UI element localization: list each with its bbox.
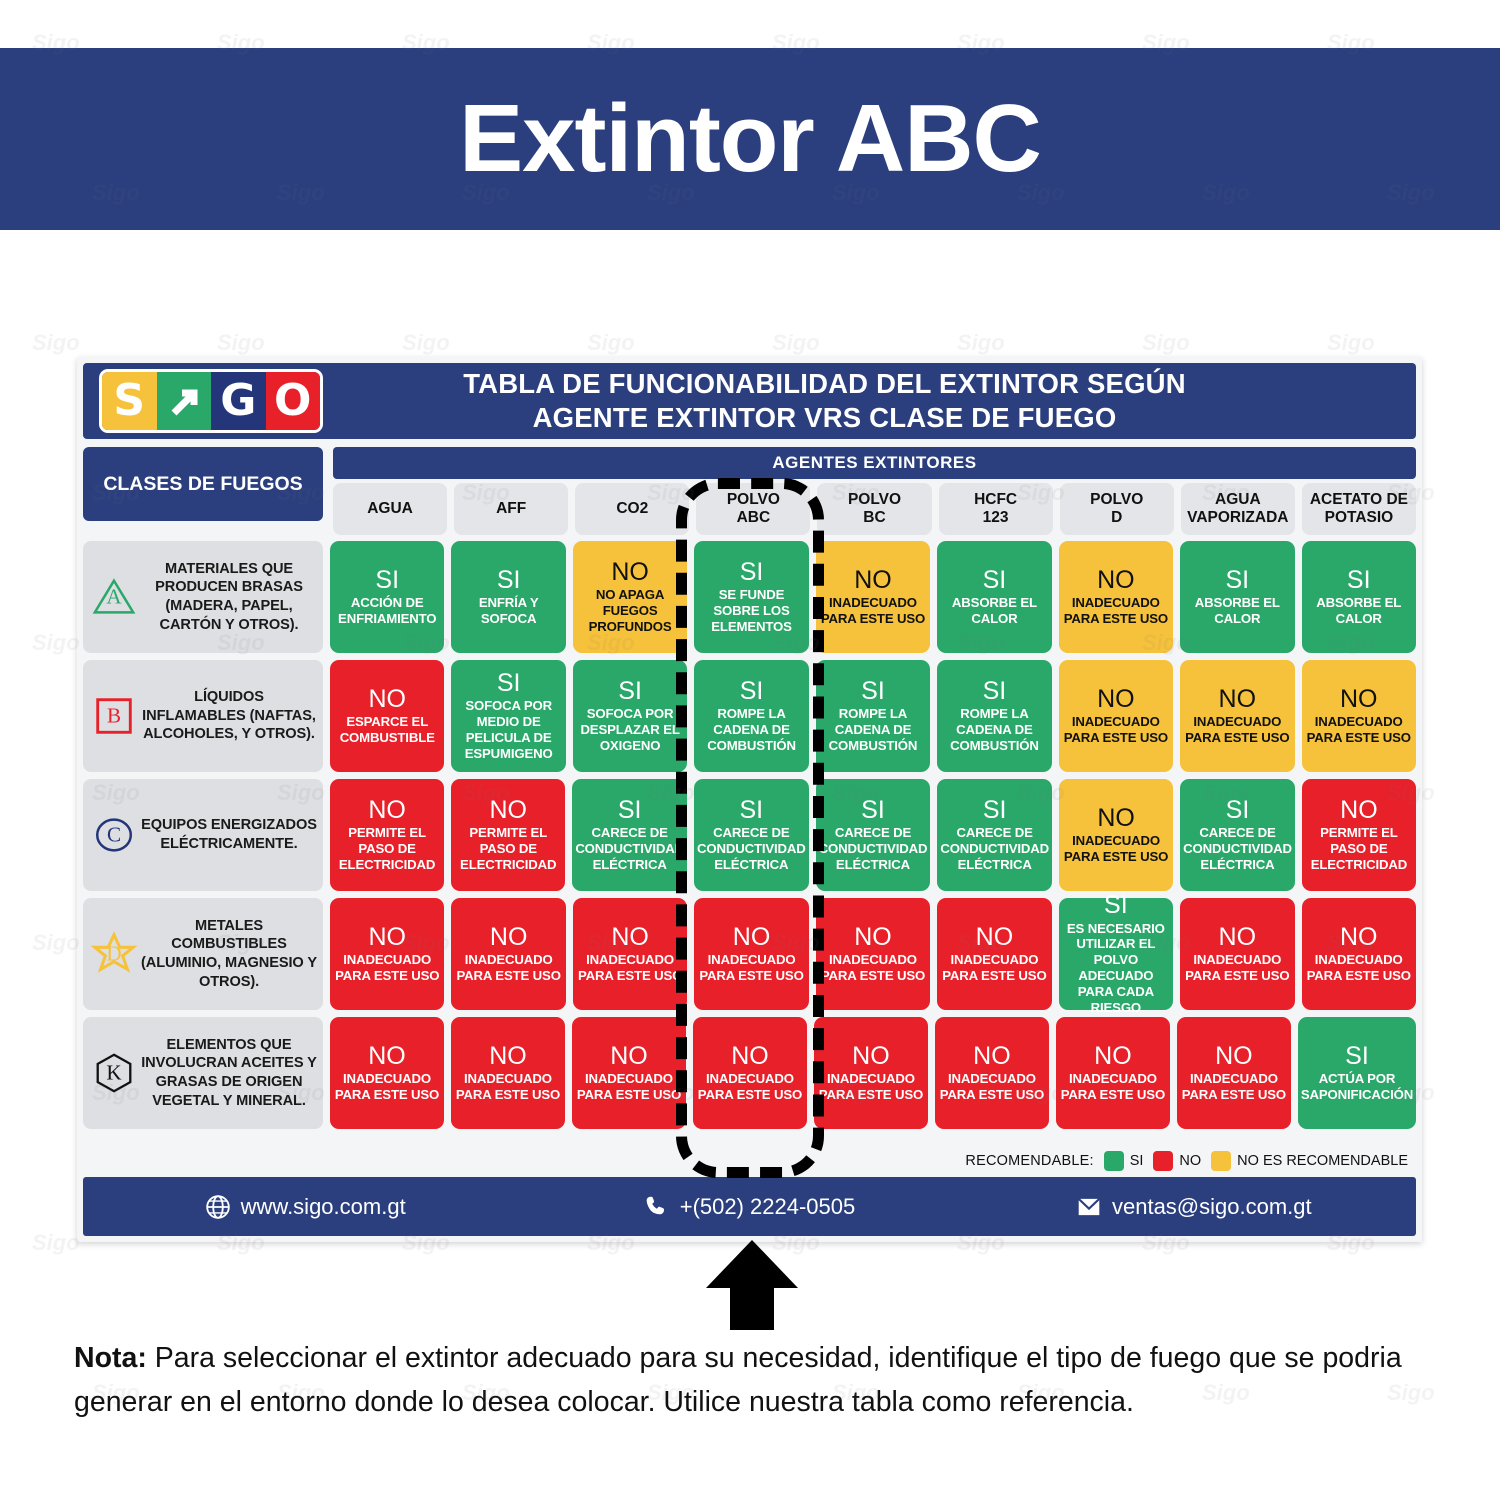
card-title-line2: AGENTE EXTINTOR VRS CLASE DE FUEGO [323,401,1326,435]
verdict-value: NO [1340,924,1378,950]
verdict-cell[interactable]: NOINADECUADO PARA ESTE USO [816,898,930,1010]
fire-class-description: EQUIPOS ENERGIZADOS ELÉCTRICAMENTE. [141,816,317,853]
verdict-cell[interactable]: NOINADECUADO PARA ESTE USO [1180,898,1294,1010]
legend-swatch-green [1104,1151,1124,1171]
agent-column-headers: AGUAAFFCO2POLVOABCPOLVOBCHCFC123POLVODAG… [333,483,1416,535]
agent-header-line2: BC [863,509,885,527]
verdict-detail: ENFRÍA Y SOFOCA [454,595,562,627]
legend-swatch-yellow [1211,1151,1231,1171]
fire-class-icon-wrap: D [87,931,141,977]
verdict-cell[interactable]: NOINADECUADO PARA ESTE USO [694,898,808,1010]
verdict-value: NO [976,924,1014,950]
agent-header-line2: VAPORIZADA [1187,509,1288,527]
verdict-value: NO [1340,797,1378,823]
agent-column-header[interactable]: AGUAVAPORIZADA [1181,483,1295,535]
verdict-value: NO [1219,924,1257,950]
legend-label-si: SI [1130,1153,1144,1169]
title-banner: Extintor ABC [0,48,1500,230]
verdict-value: NO [1094,1043,1132,1069]
mail-icon [1076,1194,1102,1220]
card-title: TABLA DE FUNCIONABILIDAD DEL EXTINTOR SE… [323,367,1416,434]
table-row: BLÍQUIDOS INFLAMABLES (NAFTAS, ALCOHOLES… [83,660,1416,772]
verdict-cell[interactable]: NOINADECUADO PARA ESTE USO [451,898,565,1010]
legend-label-no: NO [1179,1153,1201,1169]
verdict-detail: CARECE DE CONDUCTIVIDAD ELÉCTRICA [819,825,928,873]
agent-header-line2: D [1111,509,1122,527]
logo-letter-g: G [211,372,266,430]
verdict-value: SI [983,797,1007,823]
svg-text:C: C [107,823,121,847]
verdict-value: SI [740,559,764,585]
verdict-value: NO [611,924,649,950]
verdict-cell[interactable]: NOINADECUADO PARA ESTE USO [937,898,1051,1010]
verdict-value: SI [861,797,885,823]
verdict-detail: ROMPE LA CADENA DE COMBUSTIÓN [940,706,1048,754]
svg-text:A: A [106,585,122,609]
row-cells: NOESPARCE EL COMBUSTIBLESISOFOCA POR MED… [330,660,1416,772]
verdict-value: NO [1097,686,1135,712]
fire-class-label-c: CEQUIPOS ENERGIZADOS ELÉCTRICAMENTE. [83,779,323,891]
verdict-detail: INADECUADO PARA ESTE USO [454,952,562,984]
verdict-cell[interactable]: SICARECE DE CONDUCTIVIDAD ELÉCTRICA [937,779,1052,891]
verdict-cell[interactable]: SIROMPE LA CADENA DE COMBUSTIÓN [816,660,930,772]
verdict-detail: INADECUADO PARA ESTE USO [938,1071,1046,1103]
verdict-value: NO [852,1043,890,1069]
verdict-cell[interactable]: NOINADECUADO PARA ESTE USO [1059,779,1173,891]
legend-title: RECOMENDABLE: [965,1153,1093,1169]
verdict-detail: NO APAGA FUEGOS PROFUNDOS [576,587,684,635]
verdict-value: NO [368,924,406,950]
verdict-cell[interactable]: SIES NECESARIO UTILIZAR EL POLVO ADECUAD… [1059,898,1173,1010]
svg-text:D: D [106,942,121,966]
footer-website[interactable]: www.sigo.com.gt [83,1194,527,1220]
verdict-detail: ESPARCE EL COMBUSTIBLE [333,714,441,746]
verdict-detail: INADECUADO PARA ESTE USO [940,952,1048,984]
watermark: Sigo [772,330,820,356]
verdict-detail: INADECUADO PARA ESTE USO [1305,714,1413,746]
verdict-cell[interactable]: SIABSORBE EL CALOR [937,541,1051,653]
contact-footer: www.sigo.com.gt +(502) 2224-0505 ventas@… [83,1177,1416,1236]
sigo-logo: S G O [99,369,323,433]
verdict-detail: CARECE DE CONDUCTIVIDAD ELÉCTRICA [575,825,684,873]
verdict-detail: CARECE DE CONDUCTIVIDAD ELÉCTRICA [697,825,806,873]
verdict-detail: CARECE DE CONDUCTIVIDAD ELÉCTRICA [940,825,1049,873]
verdict-cell[interactable]: NOINADECUADO PARA ESTE USO [1056,1017,1170,1129]
verdict-detail: SOFOCA POR MEDIO DE PELICULA DE ESPUMIGE… [454,698,562,761]
agent-column-header[interactable]: POLVOD [1060,483,1174,535]
extinguisher-table-card: S G O TABLA DE FUNCIONABILIDAD DEL EXTIN… [77,357,1422,1242]
verdict-cell[interactable]: SIACCIÓN DE ENFRIAMIENTO [330,541,444,653]
agent-column-header[interactable]: AFF [454,483,568,535]
verdict-cell[interactable]: NOINADECUADO PARA ESTE USO [1180,660,1294,772]
verdict-value: SI [1345,1043,1369,1069]
fire-class-label-b: BLÍQUIDOS INFLAMABLES (NAFTAS, ALCOHOLES… [83,660,323,772]
agent-header-line1: POLVO [1090,491,1143,509]
watermark: Sigo [402,330,450,356]
row-cells: SIACCIÓN DE ENFRIAMIENTOSIENFRÍA Y SOFOC… [330,541,1416,653]
verdict-value: SI [740,678,764,704]
verdict-value: SI [1225,567,1249,593]
legend-swatch-red [1153,1151,1173,1171]
agent-header-line1: AFF [496,500,526,518]
verdict-detail: ROMPE LA CADENA DE COMBUSTIÓN [697,706,805,754]
verdict-value: NO [489,797,527,823]
verdict-detail: INADECUADO PARA ESTE USO [454,1071,562,1103]
fire-class-description: METALES COMBUSTIBLES (ALUMINIO, MAGNESIO… [141,917,317,992]
verdict-cell[interactable]: SISE FUNDE SOBRE LOS ELEMENTOS [694,541,808,653]
fire-class-icon-wrap: C [87,812,141,858]
verdict-cell[interactable]: NOESPARCE EL COMBUSTIBLE [330,660,444,772]
verdict-cell[interactable]: SICARECE DE CONDUCTIVIDAD ELÉCTRICA [694,779,809,891]
legend-item-si: SI [1104,1151,1144,1171]
verdict-value: NO [854,567,892,593]
card-title-line1: TABLA DE FUNCIONABILIDAD DEL EXTINTOR SE… [323,367,1326,401]
verdict-value: NO [1097,805,1135,831]
verdict-detail: INADECUADO PARA ESTE USO [575,1071,683,1103]
watermark: Sigo [1327,330,1375,356]
verdict-value: NO [611,559,649,585]
table-body: AMATERIALES QUE PRODUCEN BRASAS (MADERA,… [83,541,1416,1136]
agent-header-line2: POTASIO [1325,509,1394,527]
watermark: Sigo [587,330,635,356]
table-row: DMETALES COMBUSTIBLES (ALUMINIO, MAGNESI… [83,898,1416,1010]
watermark: Sigo [957,330,1005,356]
verdict-detail: INADECUADO PARA ESTE USO [696,1071,804,1103]
verdict-value: NO [368,797,406,823]
agent-column-header[interactable]: POLVOBC [817,483,931,535]
verdict-cell[interactable]: SICARECE DE CONDUCTIVIDAD ELÉCTRICA [1180,779,1295,891]
fire-class-label-d: DMETALES COMBUSTIBLES (ALUMINIO, MAGNESI… [83,898,323,1010]
verdict-value: SI [497,567,521,593]
watermark: Sigo [1142,330,1190,356]
fire-class-icon-wrap: A [87,574,141,620]
verdict-cell[interactable]: SIABSORBE EL CALOR [1180,541,1294,653]
svg-text:K: K [106,1061,121,1085]
agent-header-line1: CO2 [616,500,648,518]
verdict-value: SI [1226,797,1250,823]
verdict-detail: ROMPE LA CADENA DE COMBUSTIÓN [819,706,927,754]
note-body: Para seleccionar el extintor adecuado pa… [74,1342,1402,1418]
verdict-cell[interactable]: NONO APAGA FUEGOS PROFUNDOS [573,541,687,653]
agents-bar-label: AGENTES EXTINTORES [333,447,1416,479]
verdict-cell[interactable]: NOINADECUADO PARA ESTE USO [816,541,930,653]
verdict-value: NO [1219,686,1257,712]
agent-header-line1: POLVO [848,491,901,509]
globe-icon [205,1194,231,1220]
watermark: Sigo [32,930,80,956]
verdict-cell[interactable]: NOINADECUADO PARA ESTE USO [330,1017,444,1129]
logo-o-glyph: O [274,379,311,423]
fire-class-icon-wrap: K [87,1050,141,1096]
agent-column-header[interactable]: CO2 [575,483,689,535]
square-b-icon: B [91,693,137,739]
verdict-detail: INADECUADO PARA ESTE USO [1183,714,1291,746]
verdict-detail: INADECUADO PARA ESTE USO [1059,1071,1167,1103]
classes-column-header: CLASES DE FUEGOS [83,447,323,521]
note-text: Nota: Para seleccionar el extintor adecu… [74,1336,1434,1424]
watermark: Sigo [32,630,80,656]
agent-header-line1: AGUA [1215,491,1261,509]
verdict-cell[interactable]: SISOFOCA POR DESPLAZAR EL OXIGENO [573,660,687,772]
agent-column-header[interactable]: AGUA [333,483,447,535]
verdict-cell[interactable]: NOPERMITE EL PASO DE ELECTRICIDAD [330,779,444,891]
pointer-arrow-icon [706,1240,798,1330]
verdict-cell[interactable]: NOPERMITE EL PASO DE ELECTRICIDAD [451,779,565,891]
agent-header-line1: POLVO [727,491,780,509]
agent-header-line2: ABC [737,509,771,527]
verdict-value: NO [610,1043,648,1069]
agent-column-header[interactable]: HCFC123 [939,483,1053,535]
verdict-cell[interactable]: NOINADECUADO PARA ESTE USO [572,1017,686,1129]
verdict-value: SI [497,670,521,696]
verdict-cell[interactable]: NOINADECUADO PARA ESTE USO [573,898,687,1010]
footer-phone-text: +(502) 2224-0505 [680,1194,856,1220]
verdict-detail: INADECUADO PARA ESTE USO [817,1071,925,1103]
verdict-value: SI [618,678,642,704]
fire-class-description: ELEMENTOS QUE INVOLUCRAN ACEITES Y GRASA… [141,1036,317,1111]
verdict-cell[interactable]: NOPERMITE EL PASO DE ELECTRICIDAD [1302,779,1416,891]
verdict-value: SI [983,678,1007,704]
verdict-detail: CARECE DE CONDUCTIVIDAD ELÉCTRICA [1183,825,1292,873]
agent-header-line2: 123 [983,509,1009,527]
verdict-value: SI [861,678,885,704]
verdict-cell[interactable]: SIABSORBE EL CALOR [1302,541,1416,653]
verdict-cell[interactable]: NOINADECUADO PARA ESTE USO [451,1017,565,1129]
verdict-cell[interactable]: NOINADECUADO PARA ESTE USO [693,1017,807,1129]
verdict-detail: SOFOCA POR DESPLAZAR EL OXIGENO [576,706,684,754]
verdict-detail: ACTÚA POR SAPONIFICACIÓN [1301,1071,1413,1103]
verdict-cell[interactable]: SIACTÚA POR SAPONIFICACIÓN [1298,1017,1416,1129]
verdict-detail: INADECUADO PARA ESTE USO [1062,714,1170,746]
verdict-cell[interactable]: NOINADECUADO PARA ESTE USO [1177,1017,1291,1129]
triangle-a-icon: A [91,574,137,620]
agent-column-header[interactable]: ACETATO DEPOTASIO [1302,483,1416,535]
watermark: Sigo [217,330,265,356]
fire-class-description: LÍQUIDOS INFLAMABLES (NAFTAS, ALCOHOLES,… [141,688,317,744]
hexagon-k-icon: K [91,1050,137,1096]
verdict-cell[interactable]: SIENFRÍA Y SOFOCA [451,541,565,653]
row-cells: NOINADECUADO PARA ESTE USONOINADECUADO P… [330,898,1416,1010]
fire-class-label-a: AMATERIALES QUE PRODUCEN BRASAS (MADERA,… [83,541,323,653]
verdict-cell[interactable]: NOINADECUADO PARA ESTE USO [814,1017,928,1129]
row-cells: NOPERMITE EL PASO DE ELECTRICIDADNOPERMI… [330,779,1416,891]
verdict-detail: ABSORBE EL CALOR [1183,595,1291,627]
row-cells: NOINADECUADO PARA ESTE USONOINADECUADO P… [330,1017,1416,1129]
verdict-detail: ACCIÓN DE ENFRIAMIENTO [333,595,441,627]
verdict-detail: INADECUADO PARA ESTE USO [1180,1071,1288,1103]
verdict-detail: INADECUADO PARA ESTE USO [1305,952,1413,984]
verdict-cell[interactable]: SICARECE DE CONDUCTIVIDAD ELÉCTRICA [816,779,931,891]
verdict-value: NO [490,924,528,950]
verdict-detail: INADECUADO PARA ESTE USO [697,952,805,984]
verdict-cell[interactable]: SIROMPE LA CADENA DE COMBUSTIÓN [937,660,1051,772]
verdict-value: NO [489,1043,527,1069]
verdict-value: NO [368,686,406,712]
verdict-value: SI [983,567,1007,593]
note-prefix: Nota: [74,1342,147,1374]
table-row: CEQUIPOS ENERGIZADOS ELÉCTRICAMENTE.NOPE… [83,779,1416,891]
verdict-cell[interactable]: SIROMPE LA CADENA DE COMBUSTIÓN [694,660,808,772]
verdict-cell[interactable]: NOINADECUADO PARA ESTE USO [1059,660,1173,772]
logo-s-glyph: S [113,379,145,423]
verdict-detail: PERMITE EL PASO DE ELECTRICIDAD [1305,825,1413,873]
table-row: AMATERIALES QUE PRODUCEN BRASAS (MADERA,… [83,541,1416,653]
verdict-value: SI [740,797,764,823]
verdict-detail: ABSORBE EL CALOR [1305,595,1413,627]
card-header: S G O TABLA DE FUNCIONABILIDAD DEL EXTIN… [83,363,1416,439]
verdict-detail: PERMITE EL PASO DE ELECTRICIDAD [333,825,441,873]
infographic-page: Extintor ABC S G O TABLA DE FUNCIONABILI… [0,0,1500,1500]
footer-email-text: ventas@sigo.com.gt [1112,1194,1312,1220]
agent-column-header[interactable]: POLVOABC [696,483,810,535]
verdict-detail: SE FUNDE SOBRE LOS ELEMENTOS [697,587,805,635]
verdict-detail: INADECUADO PARA ESTE USO [819,952,927,984]
star-d-icon: D [91,931,137,977]
table-row: KELEMENTOS QUE INVOLUCRAN ACEITES Y GRAS… [83,1017,1416,1129]
verdict-cell[interactable]: NOINADECUADO PARA ESTE USO [330,898,444,1010]
watermark: Sigo [32,330,80,356]
verdict-cell[interactable]: SICARECE DE CONDUCTIVIDAD ELÉCTRICA [572,779,687,891]
verdict-value: SI [618,797,642,823]
verdict-cell[interactable]: NOINADECUADO PARA ESTE USO [1302,898,1416,1010]
logo-letter-o: O [266,372,321,430]
verdict-detail: INADECUADO PARA ESTE USO [819,595,927,627]
fire-class-description: MATERIALES QUE PRODUCEN BRASAS (MADERA, … [141,560,317,635]
legend-item-no: NO [1153,1151,1201,1171]
verdict-value: NO [1097,567,1135,593]
legend: RECOMENDABLE: SI NO NO ES RECOMENDABLE [83,1146,1416,1176]
fire-class-label-k: KELEMENTOS QUE INVOLUCRAN ACEITES Y GRAS… [83,1017,323,1129]
agent-header-line1: ACETATO DE [1310,491,1408,509]
svg-text:B: B [107,704,121,728]
verdict-value: NO [733,924,771,950]
footer-email[interactable]: ventas@sigo.com.gt [972,1194,1416,1220]
agent-header-line1: HCFC [974,491,1017,509]
agent-header-line1: AGUA [367,500,413,518]
verdict-detail: PERMITE EL PASO DE ELECTRICIDAD [454,825,562,873]
verdict-cell[interactable]: SISOFOCA POR MEDIO DE PELICULA DE ESPUMI… [451,660,565,772]
verdict-detail: INADECUADO PARA ESTE USO [333,1071,441,1103]
verdict-value: SI [1104,892,1128,918]
verdict-cell[interactable]: NOINADECUADO PARA ESTE USO [1059,541,1173,653]
footer-website-text: www.sigo.com.gt [241,1194,406,1220]
footer-phone[interactable]: +(502) 2224-0505 [527,1194,971,1220]
phone-icon [644,1194,670,1220]
fire-class-icon-wrap: B [87,693,141,739]
verdict-value: SI [1347,567,1371,593]
verdict-value: NO [973,1043,1011,1069]
verdict-detail: INADECUADO PARA ESTE USO [1062,595,1170,627]
verdict-detail: INADECUADO PARA ESTE USO [1062,833,1170,865]
verdict-detail: INADECUADO PARA ESTE USO [333,952,441,984]
watermark: Sigo [32,1230,80,1256]
verdict-value: NO [1215,1043,1253,1069]
verdict-detail: INADECUADO PARA ESTE USO [1183,952,1291,984]
verdict-detail: ABSORBE EL CALOR [940,595,1048,627]
logo-letter-s: S [102,372,157,430]
page-title: Extintor ABC [459,91,1041,187]
logo-arrow-icon [157,372,212,430]
verdict-value: NO [731,1043,769,1069]
legend-label-not-recommended: NO ES RECOMENDABLE [1237,1153,1408,1169]
verdict-detail: INADECUADO PARA ESTE USO [576,952,684,984]
circle-c-icon: C [91,812,137,858]
verdict-value: SI [375,567,399,593]
verdict-detail: ES NECESARIO UTILIZAR EL POLVO ADECUADO … [1062,921,1170,1016]
verdict-value: NO [854,924,892,950]
verdict-value: NO [368,1043,406,1069]
verdict-cell[interactable]: NOINADECUADO PARA ESTE USO [1302,660,1416,772]
legend-item-not-recommended: NO ES RECOMENDABLE [1211,1151,1408,1171]
verdict-cell[interactable]: NOINADECUADO PARA ESTE USO [935,1017,1049,1129]
verdict-value: NO [1340,686,1378,712]
logo-g-glyph: G [220,379,256,423]
